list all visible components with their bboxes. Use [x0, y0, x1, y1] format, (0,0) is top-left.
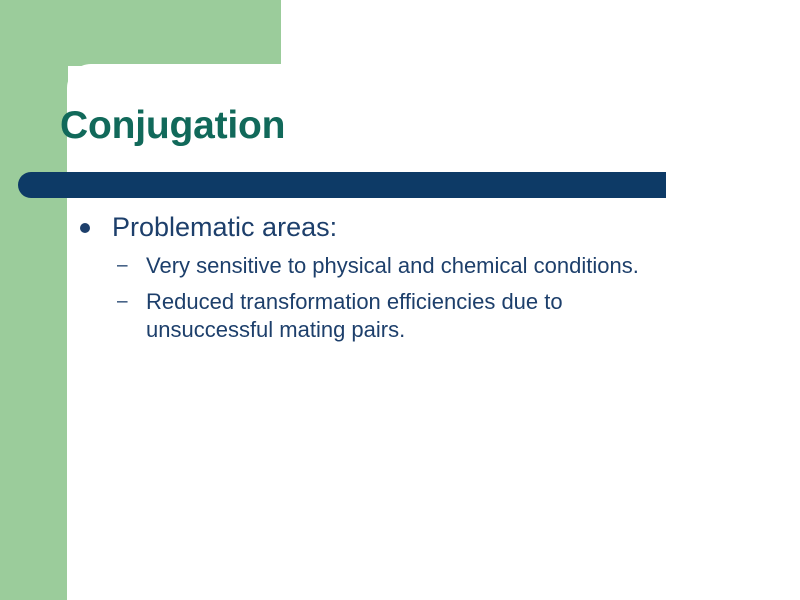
presentation-slide: Conjugation Problematic areas: – Very se…: [0, 0, 800, 600]
en-dash-bullet-icon: –: [117, 252, 128, 280]
en-dash-bullet-icon: –: [117, 288, 128, 316]
slide-title: Conjugation: [60, 104, 700, 148]
filled-circle-bullet-icon: [80, 223, 90, 233]
bullet-item-level1: Problematic areas:: [0, 210, 800, 244]
bullet-label: Reduced transformation efficiencies due …: [146, 289, 563, 342]
bullet-label: Very sensitive to physical and chemical …: [146, 253, 639, 278]
title-underline-bar: [18, 172, 666, 198]
bullet-item-level2: – Reduced transformation efficiencies du…: [0, 288, 800, 344]
bullet-item-level2: – Very sensitive to physical and chemica…: [0, 252, 800, 280]
slide-body: Problematic areas: – Very sensitive to p…: [0, 210, 800, 344]
bullet-label: Problematic areas:: [112, 212, 337, 242]
